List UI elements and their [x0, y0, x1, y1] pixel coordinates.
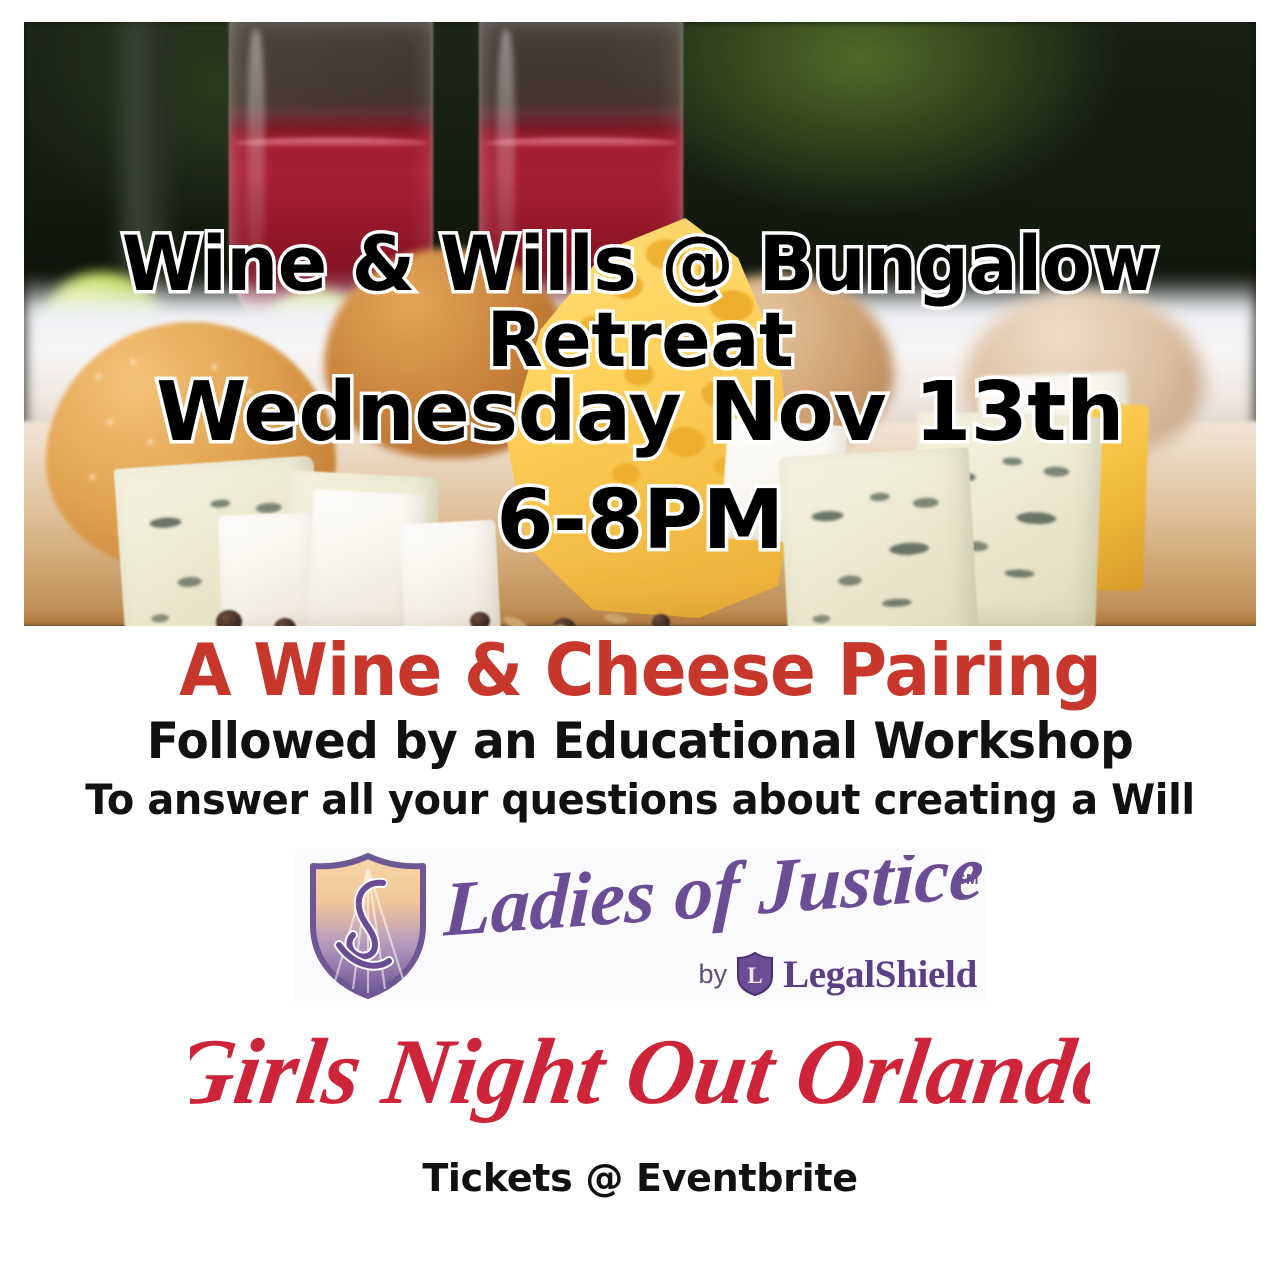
workshop-subhead: Followed by an Educational Workshop	[38, 714, 1241, 769]
svg-text:L: L	[747, 963, 762, 988]
peppercorn-5	[652, 614, 670, 626]
legalshield-wordmark: LegalShield	[783, 952, 977, 997]
legalshield-shield-icon: L	[736, 952, 774, 996]
event-date: Wednesday Nov 13th	[0, 372, 1280, 454]
loj-shield-icon	[305, 853, 431, 999]
tickets-line: Tickets @ Eventbrite	[0, 1156, 1280, 1200]
pairing-headline: A Wine & Cheese Pairing	[38, 632, 1241, 710]
loj-by-label: by	[699, 959, 728, 990]
workshop-detail: To answer all your questions about creat…	[32, 777, 1248, 823]
event-time: 6-8PM	[0, 480, 1280, 562]
event-flyer: Wine & Wills @ Bungalow Retreat Wednesda…	[0, 0, 1280, 1280]
loj-service-mark: SM	[956, 871, 980, 888]
peppercorn-3	[470, 612, 490, 626]
event-title: Wine & Wills @ Bungalow Retreat	[26, 226, 1255, 378]
ladies-of-justice-logo: Ladies of Justice SM by L LegalShield	[295, 849, 985, 1001]
loj-legalshield-row: by L LegalShield	[699, 952, 977, 997]
flyer-body: A Wine & Cheese Pairing Followed by an E…	[0, 626, 1280, 1280]
loj-wordmark-script: Ladies of Justice	[443, 855, 983, 965]
svg-text:Ladies of Justice: Ladies of Justice	[443, 855, 983, 953]
gno-text: Girls Night Out Orlando	[190, 1020, 1090, 1123]
girls-night-out-orlando-script: Girls Night Out Orlando	[190, 1015, 1090, 1135]
